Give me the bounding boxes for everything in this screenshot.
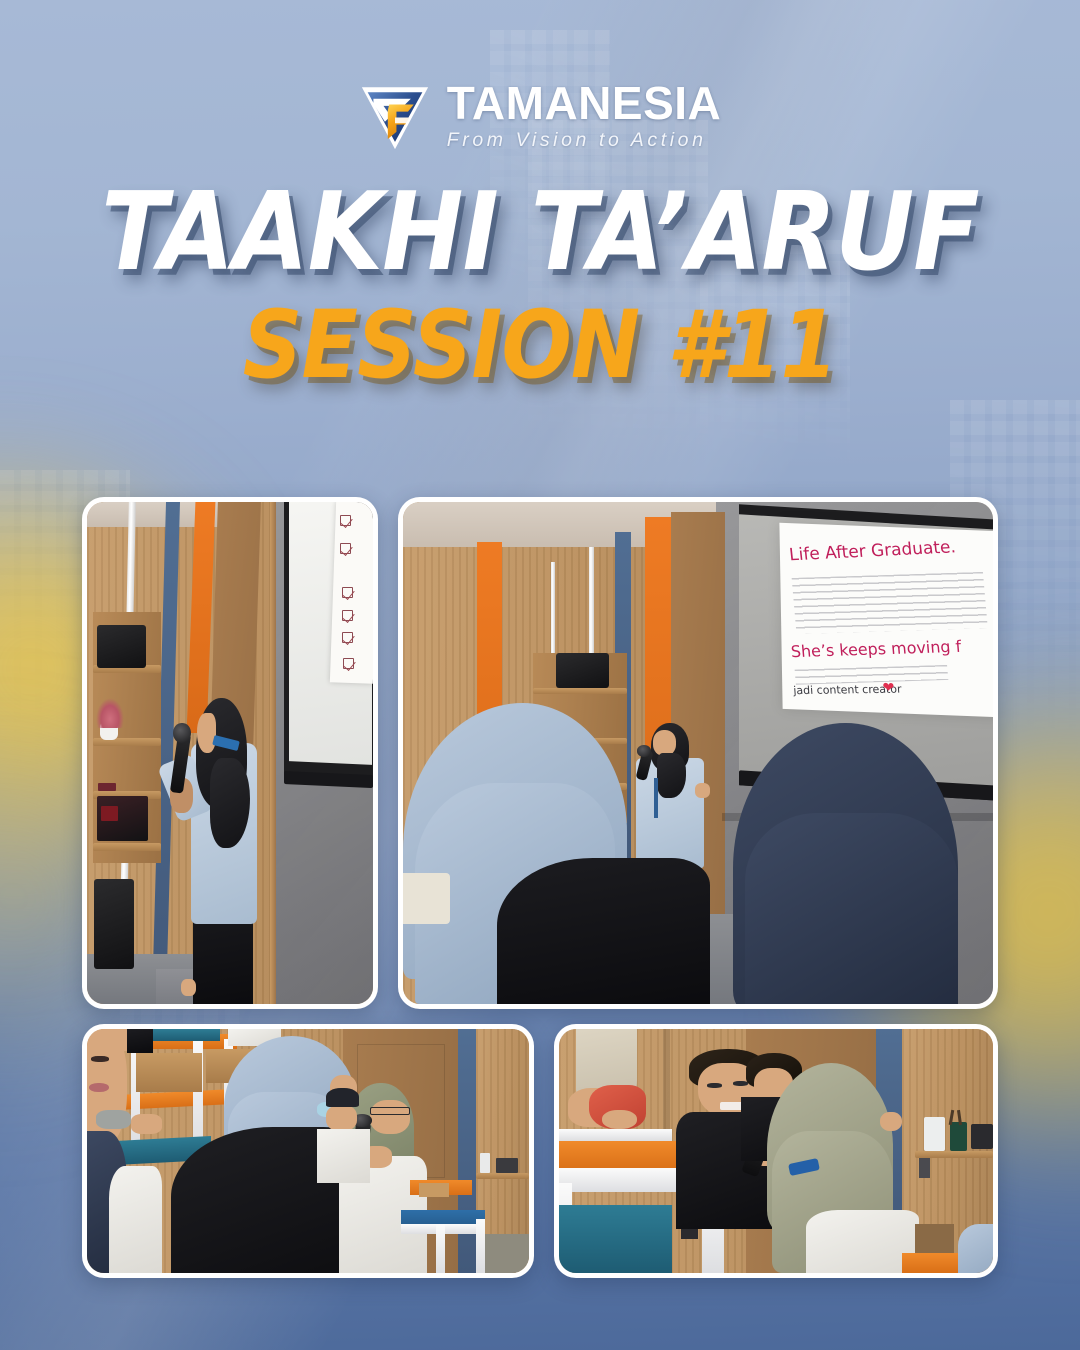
slide-heading: Life After Graduate. — [788, 537, 957, 565]
photo-audience-watching-presentation: Life After Graduate. She’s keeps moving … — [398, 497, 998, 1009]
photo-participant-speaking — [554, 1024, 998, 1278]
brand-name: TAMANESIA — [447, 80, 722, 126]
event-session-number: SESSION #11 — [65, 298, 1015, 394]
projector-slide: Life After Graduate. She’s keeps moving … — [779, 523, 993, 717]
slide-subheading: She’s keeps moving f — [789, 637, 961, 661]
photo-speaker-with-microphone — [82, 497, 378, 1009]
brand-lockup: TAMANESIA From Vision to Action — [0, 80, 1080, 152]
photo-audience-question-microphone — [82, 1024, 534, 1278]
tamanesia-triangle-logo-icon — [359, 80, 431, 152]
brand-tagline: From Vision to Action — [447, 129, 722, 152]
poster-canvas: TAMANESIA From Vision to Action TAAKHI T… — [0, 0, 1080, 1350]
event-title: TAAKHI TA’ARUF — [54, 178, 1026, 288]
headline-block: TAAKHI TA’ARUF SESSION #11 — [0, 178, 1080, 394]
heart-icon: ❤ — [882, 679, 894, 696]
brand-text-block: TAMANESIA From Vision to Action — [447, 80, 722, 152]
